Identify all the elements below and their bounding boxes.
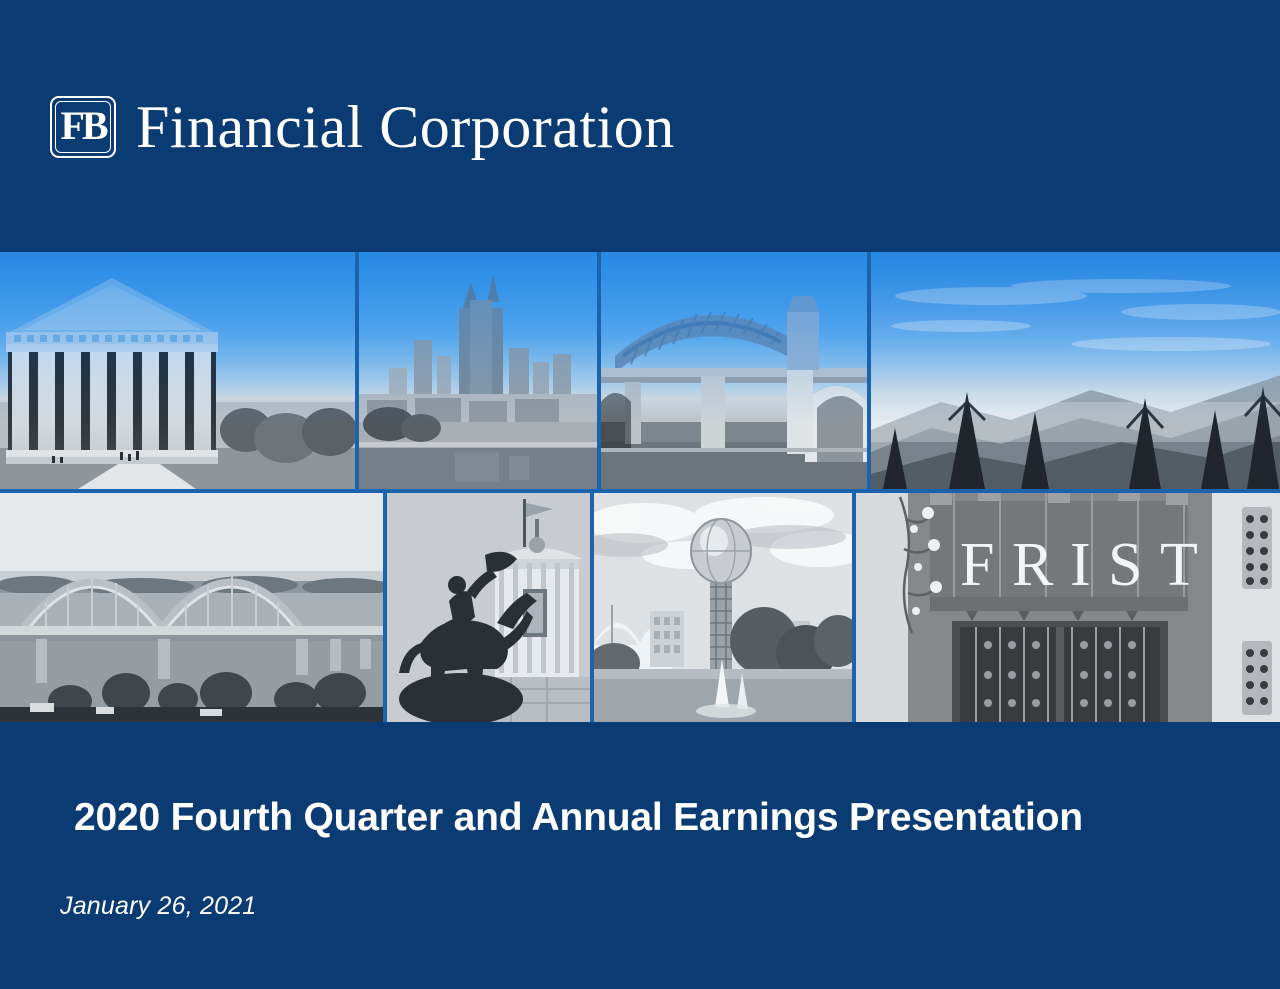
svg-text:T: T [1160, 531, 1200, 599]
photo-tile-hernando-de-soto-bridge-memphis [0, 493, 383, 722]
photo-mosaic-row-1 [0, 252, 1280, 489]
photo-tile-frist-art-museum-nashville: F R I S T [856, 493, 1280, 722]
jackson-statue-capitol-illustration [387, 493, 590, 722]
slide-header: FB Financial Corporation [0, 0, 1280, 252]
photo-tile-great-smoky-mountains [871, 252, 1280, 489]
presentation-title-slide: FB Financial Corporation [0, 0, 1280, 989]
presentation-date: January 26, 2021 [60, 892, 256, 921]
smoky-mountains-illustration [871, 252, 1280, 489]
photo-tile-parthenon-nashville [0, 252, 355, 489]
fb-logo-mark-text: FB [60, 106, 105, 146]
photo-mosaic: F R I S T [0, 252, 1280, 722]
memphis-bridge-illustration [0, 493, 383, 722]
sunsphere-illustration [594, 493, 852, 722]
photo-tile-market-street-bridge-chattanooga [601, 252, 867, 489]
company-logo: FB Financial Corporation [50, 96, 675, 158]
photo-tile-nashville-skyline [359, 252, 597, 489]
nashville-skyline-illustration [359, 252, 597, 489]
slide-footer: 2020 Fourth Quarter and Annual Earnings … [0, 722, 1280, 989]
page-title: 2020 Fourth Quarter and Annual Earnings … [74, 796, 1083, 840]
frist-art-museum-illustration: F R I S T [856, 493, 1280, 722]
svg-text:R: R [1012, 531, 1055, 599]
svg-text:I: I [1070, 531, 1093, 599]
photo-tile-sunsphere-knoxville [594, 493, 852, 722]
photo-mosaic-row-2: F R I S T [0, 493, 1280, 722]
fb-logo-mark-icon: FB [50, 96, 116, 158]
photo-tile-andrew-jackson-statue-state-capitol [387, 493, 590, 722]
chattanooga-bridge-illustration [601, 252, 867, 489]
company-wordmark: Financial Corporation [136, 97, 675, 157]
svg-text:F: F [960, 531, 996, 599]
parthenon-illustration [0, 252, 355, 489]
svg-text:S: S [1108, 531, 1144, 599]
